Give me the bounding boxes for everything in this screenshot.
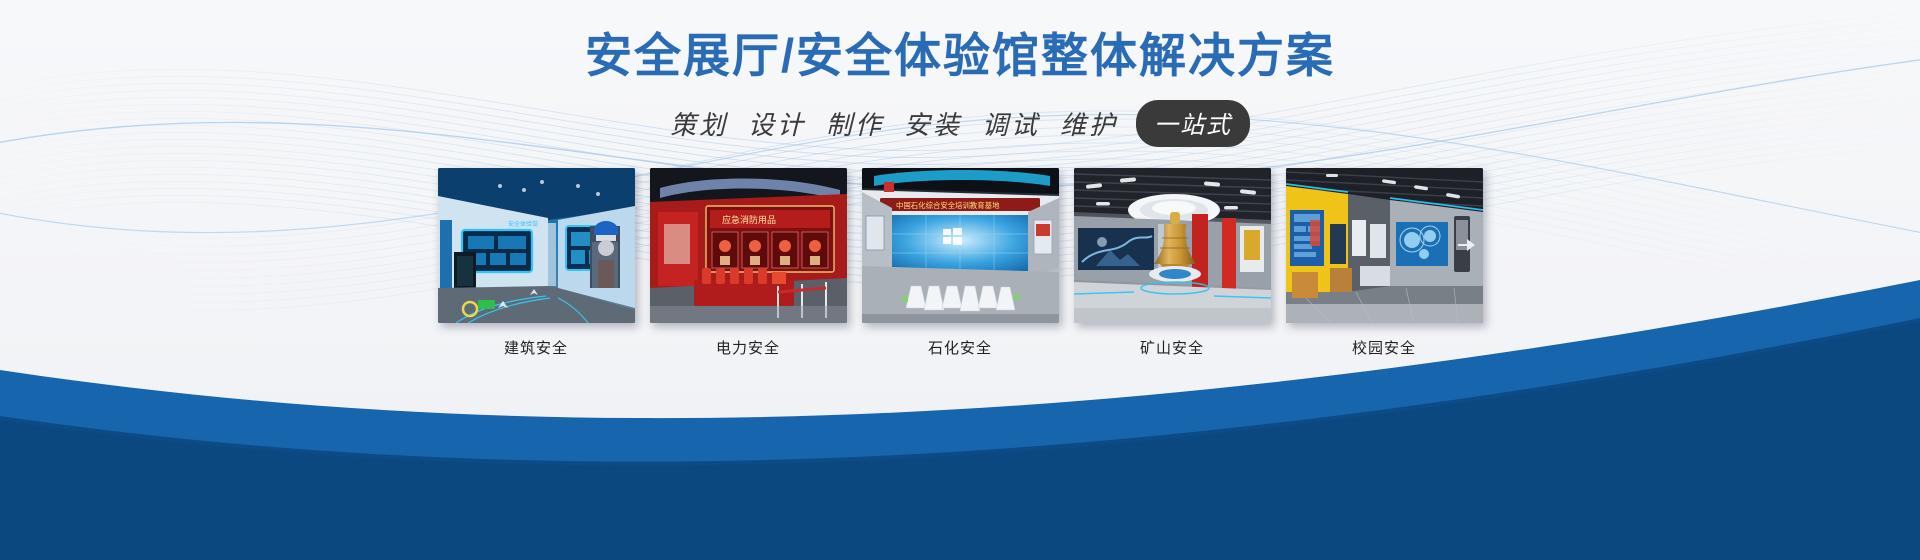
page-title: 安全展厅/安全体验馆整体解决方案 [0, 26, 1920, 86]
thumbnail-card-construction[interactable]: 安全体验馆 建筑安全 [438, 168, 635, 358]
thumbnail-caption-campus: 校园安全 [1286, 337, 1483, 358]
svg-text:安全体验馆: 安全体验馆 [508, 220, 538, 228]
service-step-3: 制作 [826, 105, 884, 142]
thumbnail-image-construction[interactable]: 安全体验馆 [438, 168, 635, 323]
thumbnail-image-campus[interactable] [1286, 168, 1483, 323]
thumbnail-image-mine[interactable] [1074, 168, 1271, 323]
thumbnail-caption-mine: 矿山安全 [1074, 337, 1271, 358]
service-step-5: 调试 [982, 105, 1040, 142]
banner-content: 安全展厅/安全体验馆整体解决方案 策划 设计 制作 安装 调试 维护 一站式 [0, 0, 1920, 560]
subtitle-row: 策划 设计 制作 安装 调试 维护 一站式 [0, 100, 1920, 147]
service-step-6: 维护 [1060, 105, 1118, 142]
thumbnail-caption-construction: 建筑安全 [438, 337, 635, 358]
one-stop-badge: 一站式 [1136, 100, 1250, 147]
service-steps: 策划 设计 制作 安装 调试 维护 [670, 105, 1118, 142]
service-step-4: 安装 [904, 105, 962, 142]
thumbnail-card-petrochemical[interactable]: 中国石化综合安全培训教育基地 [862, 168, 1059, 358]
thumbnail-card-campus[interactable]: 校园安全 [1286, 168, 1483, 358]
thumbnail-caption-power: 电力安全 [650, 337, 847, 358]
thumbnail-card-mine[interactable]: 矿山安全 [1074, 168, 1271, 358]
thumbnail-caption-petrochemical: 石化安全 [862, 337, 1059, 358]
svg-text:应急消防用品: 应急消防用品 [722, 214, 776, 225]
thumbnail-card-power[interactable]: 应急消防用品 [650, 168, 847, 358]
svg-text:中国石化综合安全培训教育基地: 中国石化综合安全培训教育基地 [896, 201, 1000, 210]
banner-root: 安全展厅/安全体验馆整体解决方案 策划 设计 制作 安装 调试 维护 一站式 [0, 0, 1920, 560]
service-step-1: 策划 [670, 105, 728, 142]
thumbnail-image-petrochemical[interactable]: 中国石化综合安全培训教育基地 [862, 168, 1059, 323]
service-step-2: 设计 [748, 105, 806, 142]
thumbnail-row: 安全体验馆 建筑安全 [0, 168, 1920, 358]
thumbnail-image-power[interactable]: 应急消防用品 [650, 168, 847, 323]
